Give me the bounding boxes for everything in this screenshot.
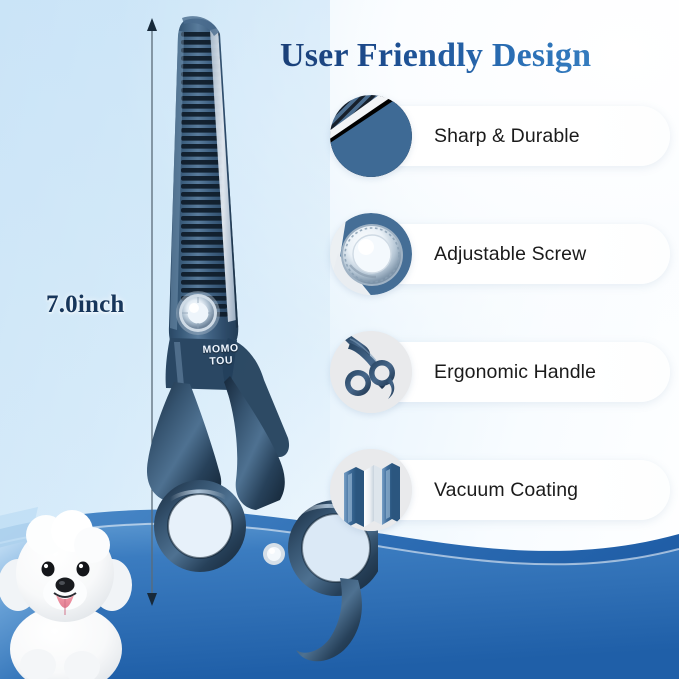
- page-title: User Friendly Design: [280, 36, 660, 76]
- product-infographic: 7.0inch: [0, 0, 679, 679]
- feature-label: Ergonomic Handle: [434, 361, 596, 384]
- feature-item-adjustable-screw[interactable]: Adjustable Screw: [330, 224, 670, 284]
- feature-item-ergonomic-handle[interactable]: Ergonomic Handle: [330, 342, 670, 402]
- feature-label: Adjustable Screw: [434, 243, 586, 266]
- feature-label: Vacuum Coating: [434, 479, 578, 502]
- dog-photo: [0, 489, 140, 679]
- scissor-handle-icon: [330, 331, 412, 413]
- coated-plates-icon: [330, 449, 412, 531]
- pivot-screw-graphic: [176, 291, 220, 335]
- feature-list: Sharp & Durable: [330, 106, 670, 520]
- blade-teeth-icon: [330, 95, 412, 177]
- feature-item-sharp-durable[interactable]: Sharp & Durable: [330, 106, 670, 166]
- feature-label: Sharp & Durable: [434, 125, 580, 148]
- feature-item-vacuum-coating[interactable]: Vacuum Coating: [330, 460, 670, 520]
- chrome-screw-icon: [330, 213, 412, 295]
